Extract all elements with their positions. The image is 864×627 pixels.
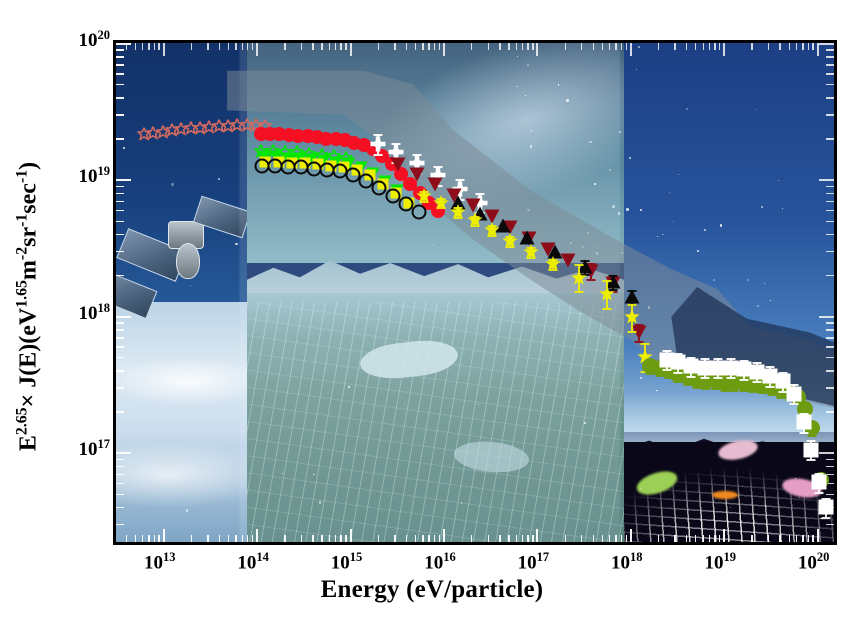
data-point-dark-red-inverted-triangles (561, 253, 576, 268)
error-bar-cap (674, 353, 683, 355)
error-bar (659, 361, 661, 375)
data-point-black-open-circles (320, 162, 335, 177)
error-bar-cap (627, 331, 636, 333)
error-bar-cap (434, 166, 443, 168)
error-bar (437, 166, 439, 185)
error-bar-cap (635, 324, 644, 326)
data-point-dark-red-inverted-triangles (465, 198, 480, 213)
data-point-red-filled-circles (282, 128, 296, 142)
error-bar (782, 372, 784, 391)
data-point-red-filled-circles (301, 129, 315, 143)
error-bar-cap (476, 193, 485, 195)
data-point-red-filled-circles (263, 127, 277, 141)
plot-area (113, 40, 837, 545)
data-point-dark-red-inverted-triangles (521, 231, 536, 246)
data-point-yellow-squares (338, 162, 349, 173)
data-point-red-filled-circles (357, 138, 371, 152)
x-tick-label: 1020 (798, 550, 830, 574)
error-bar-cap (663, 350, 672, 352)
data-point-red-filled-circles (329, 132, 343, 146)
data-point-green-inverted-triangles (342, 157, 355, 170)
error-bar-cap (687, 357, 696, 359)
data-point-green-inverted-triangles (354, 161, 367, 174)
error-bar-cap (603, 308, 612, 310)
x-tick-label: 1016 (424, 550, 456, 574)
x-tick-label: 1017 (518, 550, 550, 574)
error-bar-cap (506, 246, 515, 248)
data-point-open-salmon-stars-low-energy (203, 120, 216, 133)
error-bar-cap (711, 388, 720, 390)
error-bar-cap (580, 260, 589, 262)
data-point-yellow-squares (286, 158, 297, 169)
y-tick-label: 1019 (58, 164, 110, 188)
data-point-red-filled-circles (403, 177, 417, 191)
data-point-black-open-circles (293, 160, 308, 175)
x-tick-label: 1015 (331, 550, 363, 574)
error-bar-cap (779, 372, 788, 374)
error-bar-cap (476, 212, 485, 214)
error-bar (743, 360, 745, 379)
error-bar (793, 384, 795, 403)
error-bar (704, 358, 706, 377)
data-point-green-open-stars (254, 144, 267, 157)
error-bar-cap (655, 375, 664, 377)
data-point-yellow-squares (378, 178, 389, 189)
data-point-open-salmon-stars-low-energy (212, 120, 225, 133)
error-bar-cap (453, 217, 462, 219)
error-bar-cap (373, 134, 382, 136)
error-bar-cap (575, 291, 584, 293)
error-bar-cap (726, 358, 735, 360)
error-bar-cap (373, 154, 382, 156)
error-bar-cap (752, 362, 761, 364)
error-bar-cap (646, 360, 655, 362)
error-bar-cap (765, 366, 774, 368)
x-tick-label: 1018 (611, 550, 643, 574)
data-point-yellow-squares (312, 159, 323, 170)
data-point-black-open-circles (267, 158, 282, 173)
error-bar-cap (392, 162, 401, 164)
error-bar-cap (821, 498, 830, 500)
error-bar-cap (814, 473, 823, 475)
error-bar (803, 413, 805, 432)
data-point-green-inverted-triangles (281, 151, 294, 164)
error-bar (696, 373, 698, 387)
error-bar (666, 350, 668, 369)
error-bar-cap (674, 372, 683, 374)
error-bar-cap (799, 413, 808, 415)
y-tick-label: 1020 (58, 28, 110, 52)
error-bar (690, 357, 692, 376)
error-bar-cap (580, 274, 589, 276)
error-bar-cap (506, 236, 515, 238)
error-bar-cap (635, 341, 644, 343)
error-bar-cap (549, 269, 558, 271)
data-point-red-filled-circles (272, 127, 286, 141)
error-bar-cap (752, 381, 761, 383)
data-point-open-salmon-stars-low-energy (147, 127, 160, 140)
error-bar-cap (627, 304, 636, 306)
error-bar-cap (420, 201, 429, 203)
data-point-yellow-squares (325, 160, 336, 171)
data-point-green-inverted-triangles (318, 154, 331, 167)
error-bar-cap (739, 379, 748, 381)
error-bar-cap (655, 361, 664, 363)
data-point-black-open-circles (280, 160, 295, 175)
data-point-green-open-stars (339, 151, 352, 164)
data-point-yellow-squares (404, 197, 415, 208)
error-bar-cap (801, 402, 810, 404)
data-point-black-open-circles (372, 180, 387, 195)
error-bar (590, 263, 592, 279)
error-bar-cap (713, 358, 722, 360)
error-bar (818, 473, 820, 492)
data-point-open-salmon-stars-low-energy (166, 124, 179, 137)
error-bar-cap (683, 384, 692, 386)
error-bar-cap (455, 179, 464, 181)
data-point-yellow-squares (365, 170, 376, 181)
data-point-black-open-circles (333, 164, 348, 179)
error-bar-cap (687, 376, 696, 378)
error-bar-cap (758, 379, 767, 381)
error-bar-cap (807, 440, 816, 442)
data-point-dark-red-inverted-triangles (428, 176, 443, 191)
error-bar (717, 358, 719, 377)
error-bar-cap (807, 421, 816, 423)
data-point-open-salmon-stars-low-energy (156, 125, 169, 138)
error-bar (638, 324, 640, 340)
error-bar-cap (726, 377, 735, 379)
data-markers-layer (116, 43, 834, 542)
error-bar-cap (693, 373, 702, 375)
error-bar-cap (455, 199, 464, 201)
y-tick-label: 1017 (58, 437, 110, 461)
error-bar-cap (608, 289, 617, 291)
data-point-green-open-stars (266, 144, 279, 157)
error-bar (797, 390, 799, 404)
data-point-red-filled-circles (347, 136, 361, 150)
data-point-black-open-circles (359, 173, 374, 188)
data-point-green-inverted-triangles (330, 155, 343, 168)
data-point-dark-red-inverted-triangles (503, 220, 518, 235)
error-bar-cap (526, 257, 535, 259)
error-bar-cap (821, 517, 830, 519)
error-bar-cap (549, 259, 558, 261)
error-bar (479, 193, 481, 212)
error-bar-cap (713, 377, 722, 379)
data-point-green-open-stars (291, 146, 304, 159)
error-bar-cap (790, 403, 799, 405)
error-bar (756, 362, 758, 381)
data-point-yellow-squares (260, 156, 271, 167)
data-point-open-salmon-stars-low-energy (184, 122, 197, 135)
data-point-red-filled-circles (310, 130, 324, 144)
data-point-open-salmon-stars-low-energy (222, 120, 235, 133)
error-bar-cap (790, 384, 799, 386)
error-bar-cap (434, 185, 443, 187)
error-bar-cap (730, 390, 739, 392)
error-bar (416, 154, 418, 173)
error-bar (644, 343, 646, 370)
data-point-dark-red-inverted-triangles (391, 157, 406, 172)
data-point-yellow-squares (299, 158, 310, 169)
error-bar (677, 353, 679, 372)
data-point-red-filled-circles (319, 132, 333, 146)
data-point-open-salmon-stars-low-energy (175, 122, 188, 135)
data-point-green-open-stars (279, 146, 292, 159)
error-bar-cap (487, 235, 496, 237)
data-point-open-salmon-stars-low-energy (138, 128, 151, 141)
error-bar-cap (487, 225, 496, 227)
data-point-black-open-circles (398, 197, 413, 212)
figure-root: 10131014101510161017101810191020 1020101… (0, 0, 864, 627)
error-bar (730, 358, 732, 377)
error-bar (825, 498, 827, 517)
data-point-dark-red-inverted-triangles (484, 209, 499, 224)
error-bar-cap (603, 280, 612, 282)
data-point-black-open-circles (411, 205, 426, 220)
error-bar-cap (640, 343, 649, 345)
data-point-green-open-stars (303, 147, 316, 160)
error-bar-cap (437, 198, 446, 200)
error-bar (789, 386, 791, 400)
error-bar-cap (665, 377, 674, 379)
error-bar (459, 179, 461, 198)
error-bar (606, 280, 608, 307)
error-bar-cap (700, 358, 709, 360)
error-bar-cap (693, 387, 702, 389)
x-tick-label: 1013 (144, 550, 176, 574)
error-bar (395, 143, 397, 162)
error-bar-cap (674, 381, 683, 383)
error-bar-cap (526, 247, 535, 249)
error-bar-cap (608, 275, 617, 277)
error-bar (761, 379, 763, 393)
error-bar-cap (470, 216, 479, 218)
data-point-green-inverted-triangles (306, 153, 319, 166)
data-point-red-filled-circles (394, 167, 408, 181)
data-point-green-inverted-triangles (366, 166, 379, 179)
error-bar-cap (779, 391, 788, 393)
data-point-open-salmon-stars-low-energy (194, 121, 207, 134)
data-point-open-salmon-stars-low-energy (250, 118, 263, 131)
data-point-open-salmon-stars-low-energy (231, 118, 244, 131)
error-bar-cap (437, 207, 446, 209)
data-point-yellow-squares (273, 156, 284, 167)
data-point-red-filled-circles (254, 127, 268, 141)
error-bar-cap (807, 435, 816, 437)
data-point-black-open-circles (346, 168, 361, 183)
error-bar-cap (700, 377, 709, 379)
data-point-yellow-squares (352, 164, 363, 175)
error-bar-cap (777, 397, 786, 399)
error-bar-cap (575, 264, 584, 266)
error-bar-cap (412, 173, 421, 175)
data-point-green-inverted-triangles (379, 174, 392, 187)
data-point-green-open-stars (327, 150, 340, 163)
data-point-black-filled-triangles (548, 244, 563, 259)
error-bar (377, 134, 379, 153)
data-point-open-salmon-stars-low-energy (259, 120, 272, 133)
error-bar (631, 290, 633, 304)
error-bar (769, 366, 771, 385)
error-bar-cap (663, 369, 672, 371)
error-bar-cap (767, 394, 776, 396)
data-point-red-filled-circles (338, 133, 352, 147)
error-bar (811, 421, 813, 435)
error-bar (820, 473, 822, 487)
error-bar-cap (627, 290, 636, 292)
error-bar-cap (739, 360, 748, 362)
data-point-black-filled-triangles (520, 231, 535, 246)
x-tick-label: 1014 (237, 550, 269, 574)
data-point-green-inverted-triangles (257, 150, 270, 163)
data-point-green-inverted-triangles (294, 151, 307, 164)
data-point-open-salmon-stars-low-energy (240, 118, 253, 131)
error-bar-cap (640, 371, 649, 373)
data-point-green-inverted-triangles (269, 150, 282, 163)
data-point-black-open-circles (385, 188, 400, 203)
error-bar (631, 304, 633, 331)
error-bar-cap (420, 191, 429, 193)
error-bar-cap (814, 492, 823, 494)
error-bar (649, 360, 651, 374)
data-point-green-open-stars (315, 148, 328, 161)
error-bar-cap (721, 390, 730, 392)
data-point-red-filled-circles (291, 129, 305, 143)
error-bar-cap (739, 390, 748, 392)
error-bar-cap (586, 263, 595, 265)
error-bar-cap (453, 207, 462, 209)
x-axis-title: Energy (eV/particle) (0, 576, 864, 604)
data-point-dark-red-inverted-triangles (540, 242, 555, 257)
data-point-black-open-circles (307, 161, 322, 176)
data-point-black-filled-triangles (495, 218, 510, 233)
error-bar-cap (749, 391, 758, 393)
error-bar-cap (765, 386, 774, 388)
y-axis-title: E2.65× J(E)(eV1.65m-2sr-1sec-1) (14, 47, 43, 567)
error-bar (752, 377, 754, 391)
error-bar (612, 275, 614, 289)
error-bar-cap (758, 392, 767, 394)
data-point-green-inverted-triangles (391, 184, 404, 197)
error-bar-cap (470, 225, 479, 227)
x-tick-label: 1019 (704, 550, 736, 574)
data-point-black-open-circles (254, 158, 269, 173)
error-bar-cap (586, 279, 595, 281)
error-bar-cap (608, 291, 617, 293)
y-tick-label: 1018 (58, 301, 110, 325)
error-bar-cap (807, 459, 816, 461)
error-bar (578, 264, 580, 291)
error-bar-cap (412, 154, 421, 156)
error-bar (584, 260, 586, 274)
data-point-yellow-squares (391, 188, 402, 199)
error-bar-cap (392, 143, 401, 145)
error-bar-cap (702, 388, 711, 390)
error-bar (810, 440, 812, 459)
data-point-red-filled-circles (431, 204, 445, 218)
error-bar-cap (646, 373, 655, 375)
error-bar-cap (799, 432, 808, 434)
